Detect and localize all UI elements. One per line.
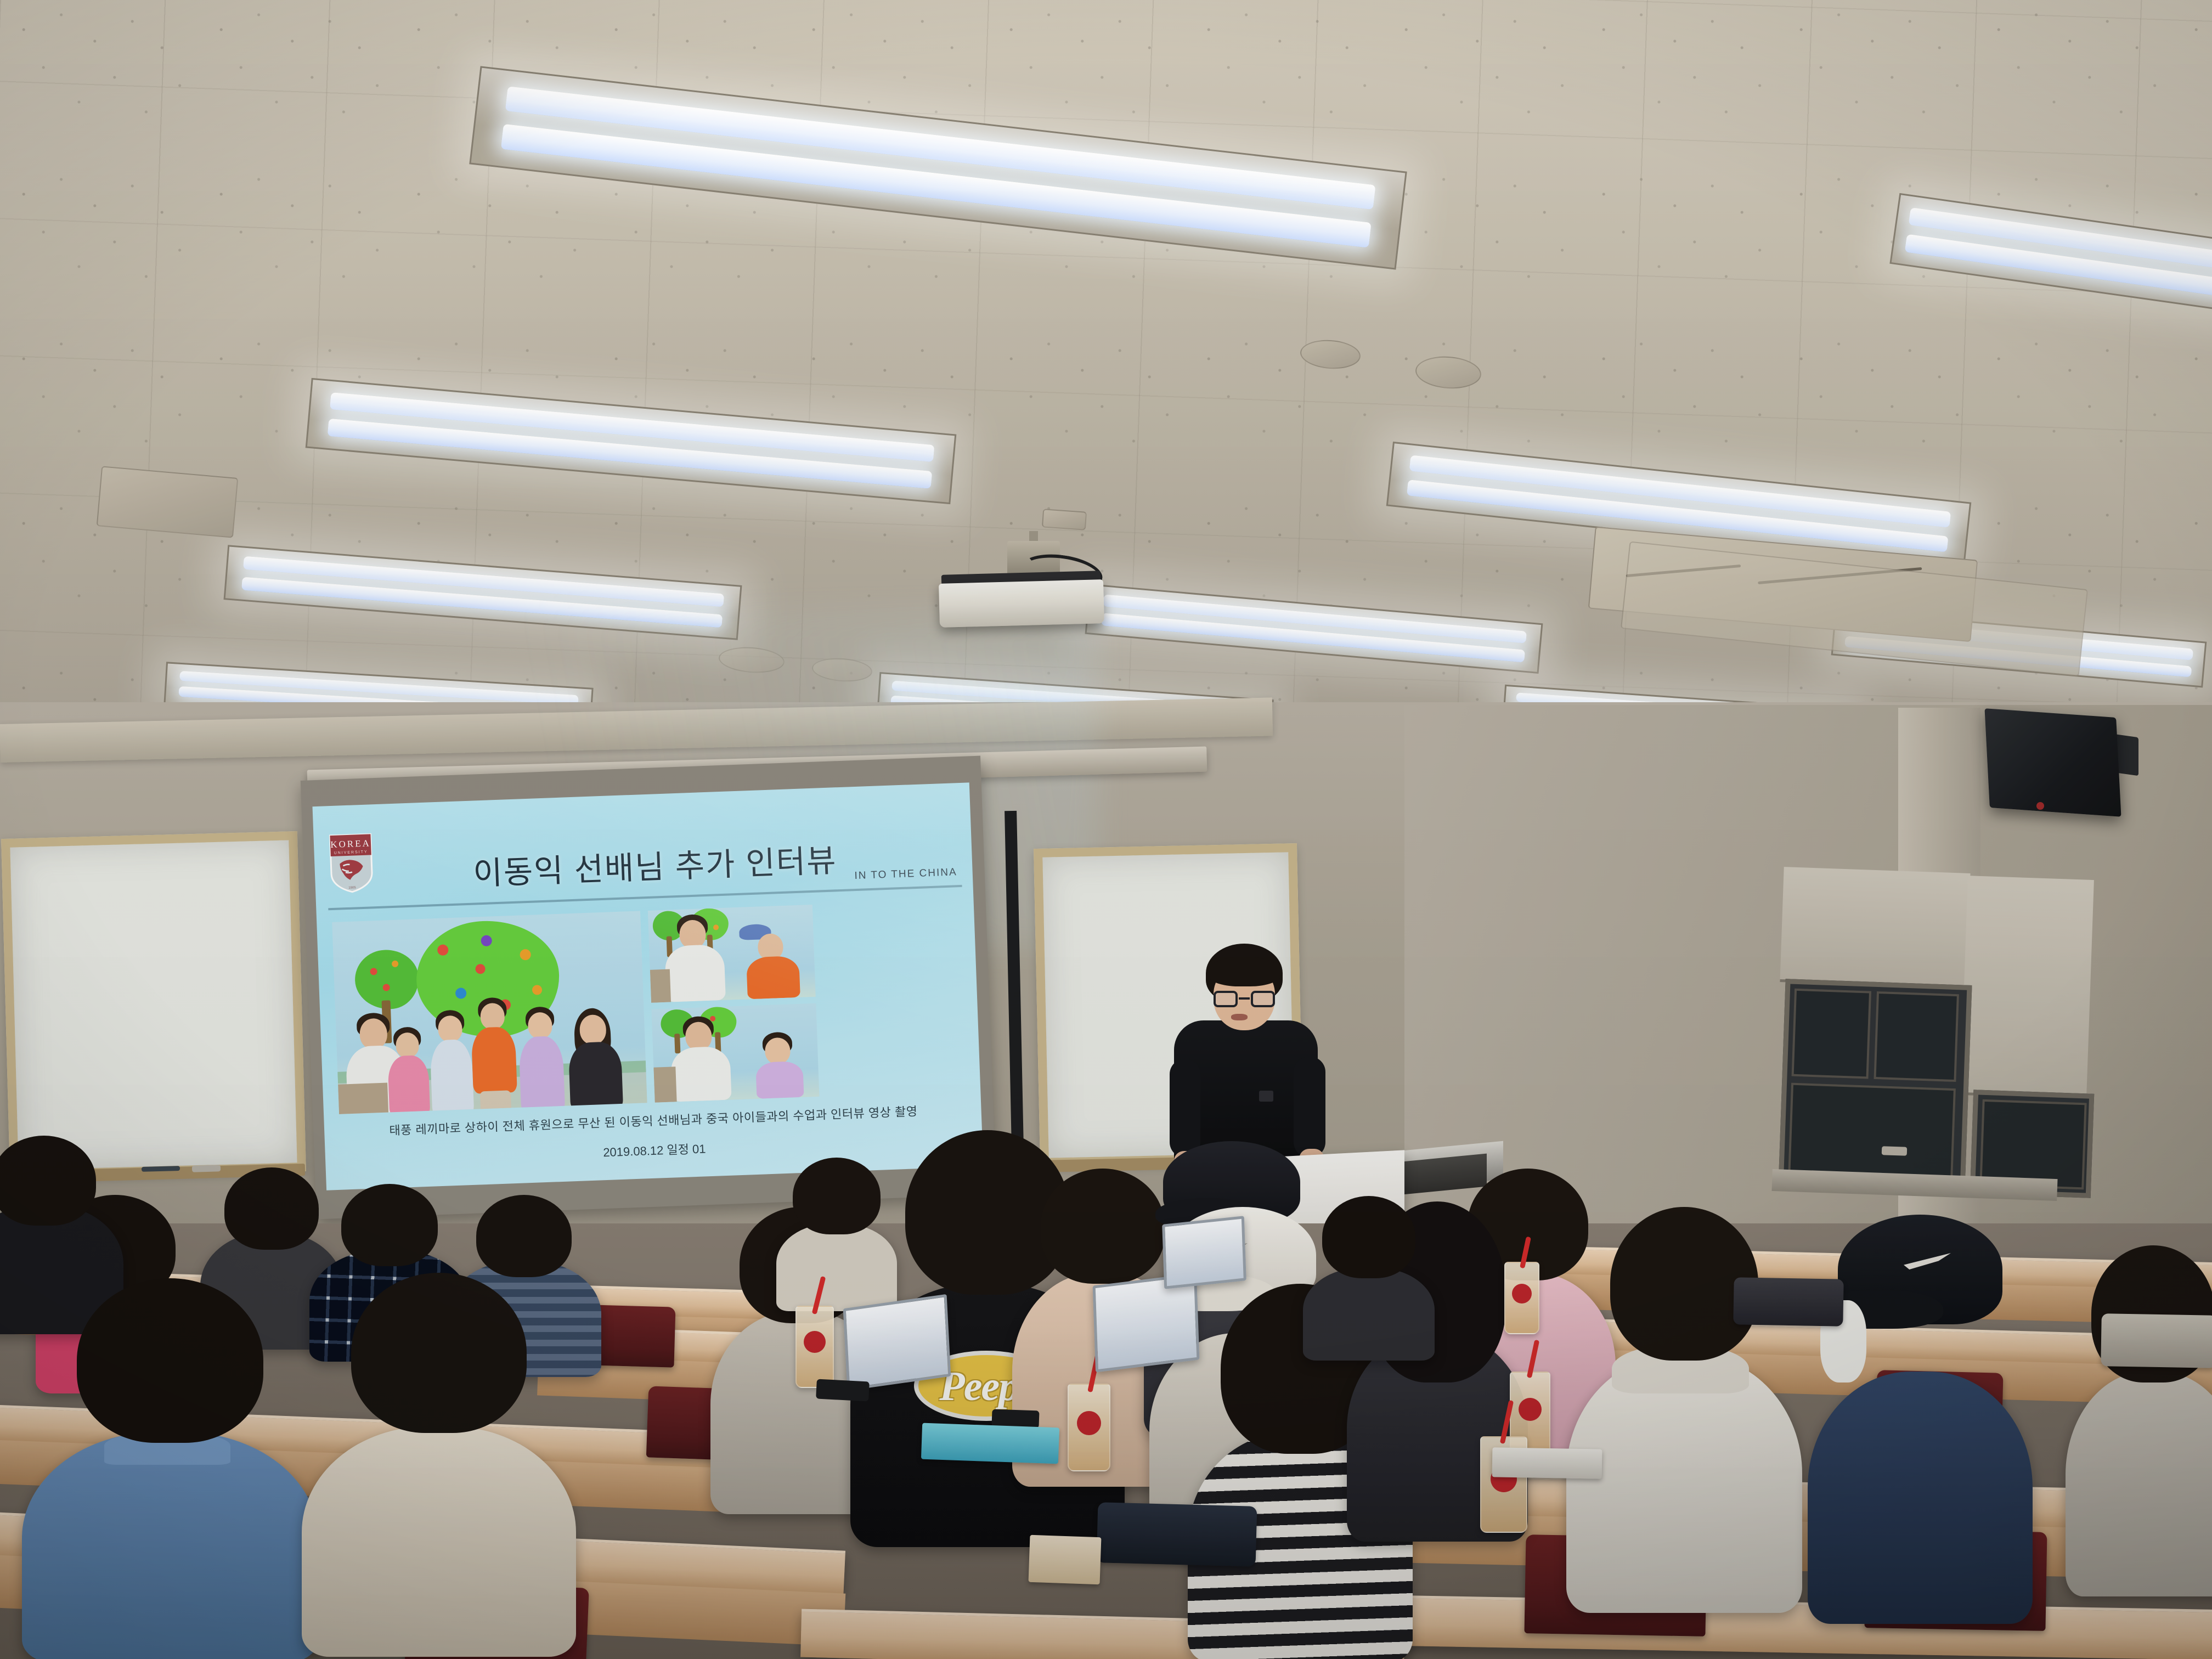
presentation-slide: KOREA UNIVERSITY 1905 이동익 선배님 추가 인터뷰 IN … [313, 782, 984, 1190]
presenter-mouth [1231, 1014, 1248, 1020]
photo-desk [650, 969, 671, 1003]
svg-text:KOREA: KOREA [330, 838, 371, 850]
student-torso [776, 1223, 897, 1311]
photo-person-interviewer [669, 1015, 732, 1102]
whiteboard-marker [142, 1166, 180, 1172]
open-laptop[interactable] [1162, 1216, 1246, 1289]
photo-person-girl-purple [754, 1031, 805, 1099]
slide-title: 이동익 선배님 추가 인터뷰 [451, 834, 859, 895]
student-midrow-back-b [774, 1158, 900, 1311]
presenter-hair-fringe [1207, 957, 1282, 986]
photo-desk [653, 1066, 676, 1102]
cup-logo [1512, 1284, 1532, 1304]
photo-person-child-white-dress [427, 1009, 475, 1114]
ceiling-sprinkler [1042, 509, 1087, 530]
glasses-lens-right [1251, 991, 1275, 1007]
student-white-hoodie [1564, 1207, 1805, 1613]
left-whiteboard [1, 831, 306, 1179]
student-torso [302, 1426, 576, 1657]
bag[interactable] [2101, 1313, 2212, 1368]
notebook[interactable] [921, 1423, 1059, 1464]
photo-person-adult-right [562, 1007, 627, 1110]
speaker-led-icon [2036, 802, 2044, 810]
student-torso [2066, 1372, 2212, 1596]
student-hair [0, 1136, 96, 1226]
cup-logo [1519, 1398, 1542, 1421]
photo-person-interviewer [663, 913, 726, 1002]
slide-photo-group [332, 911, 647, 1114]
student-hair [476, 1195, 572, 1277]
bag[interactable] [1097, 1502, 1257, 1567]
student-hair [351, 1273, 527, 1433]
photo-person-boy-orange-cap [745, 923, 802, 999]
bag[interactable] [1733, 1277, 1843, 1326]
notebook[interactable] [1492, 1447, 1602, 1479]
glasses-lens-left [1214, 991, 1238, 1007]
open-laptop[interactable] [1093, 1273, 1200, 1372]
ceiling-access-panel [97, 466, 239, 538]
student-hair [341, 1184, 438, 1266]
window-pane [1979, 1099, 2086, 1190]
student-denim-jacket [16, 1278, 324, 1659]
iced-coffee-cup[interactable] [1068, 1384, 1110, 1471]
student-torso [22, 1432, 318, 1659]
rear-window [1778, 979, 1972, 1194]
window-roller-blind[interactable] [1960, 876, 2094, 1099]
student-hair [1322, 1196, 1415, 1278]
window-roller-blind[interactable] [1780, 867, 1970, 989]
window-latch[interactable] [1882, 1146, 1908, 1156]
student-torso [1303, 1267, 1435, 1361]
slide-header-divider [328, 885, 962, 910]
student-right-far [2063, 1245, 2212, 1596]
student-midrow-back-a [1300, 1196, 1437, 1361]
wall-speaker [1984, 708, 2121, 817]
smartphone[interactable] [816, 1379, 870, 1402]
slide-photo-interview-girl [651, 1003, 819, 1103]
window-pane [1874, 991, 1959, 1082]
ceiling-projector[interactable] [939, 579, 1104, 628]
slide-photo-interview-boy [648, 905, 816, 1003]
student-hair [793, 1158, 881, 1234]
cup-logo [1077, 1411, 1101, 1435]
svg-text:1905: 1905 [348, 886, 356, 890]
glasses-icon [1214, 991, 1275, 1007]
photo-desk [338, 1083, 388, 1114]
student-cream-sweater [296, 1273, 582, 1657]
presenter-shirt-logo [1259, 1091, 1273, 1102]
student-hair [224, 1167, 319, 1250]
korea-university-crest-icon: KOREA UNIVERSITY 1905 [328, 832, 375, 895]
glasses-bridge [1239, 997, 1250, 1000]
cup-logo [804, 1331, 826, 1353]
window-pane [1788, 1083, 1956, 1181]
window-pane [1792, 989, 1871, 1079]
photo-person-child-pink [384, 1026, 432, 1114]
student-black-nike-cap-mask [1805, 1207, 2035, 1624]
open-laptop[interactable] [843, 1294, 951, 1391]
desk-sticker [1029, 1535, 1102, 1584]
photo-person-child-purple [516, 1006, 566, 1114]
lecture-hall-photo: KOREA UNIVERSITY 1905 이동익 선배님 추가 인터뷰 IN … [0, 0, 2212, 1659]
photo-person-child-orange [469, 997, 520, 1114]
student-torso [1566, 1355, 1802, 1613]
student-torso [1808, 1372, 2033, 1624]
student-hair [77, 1278, 263, 1443]
iced-coffee-cup[interactable] [795, 1306, 834, 1388]
iced-coffee-cup[interactable] [1504, 1262, 1539, 1334]
slide-kicker-text: IN TO THE CHINA [854, 866, 957, 882]
